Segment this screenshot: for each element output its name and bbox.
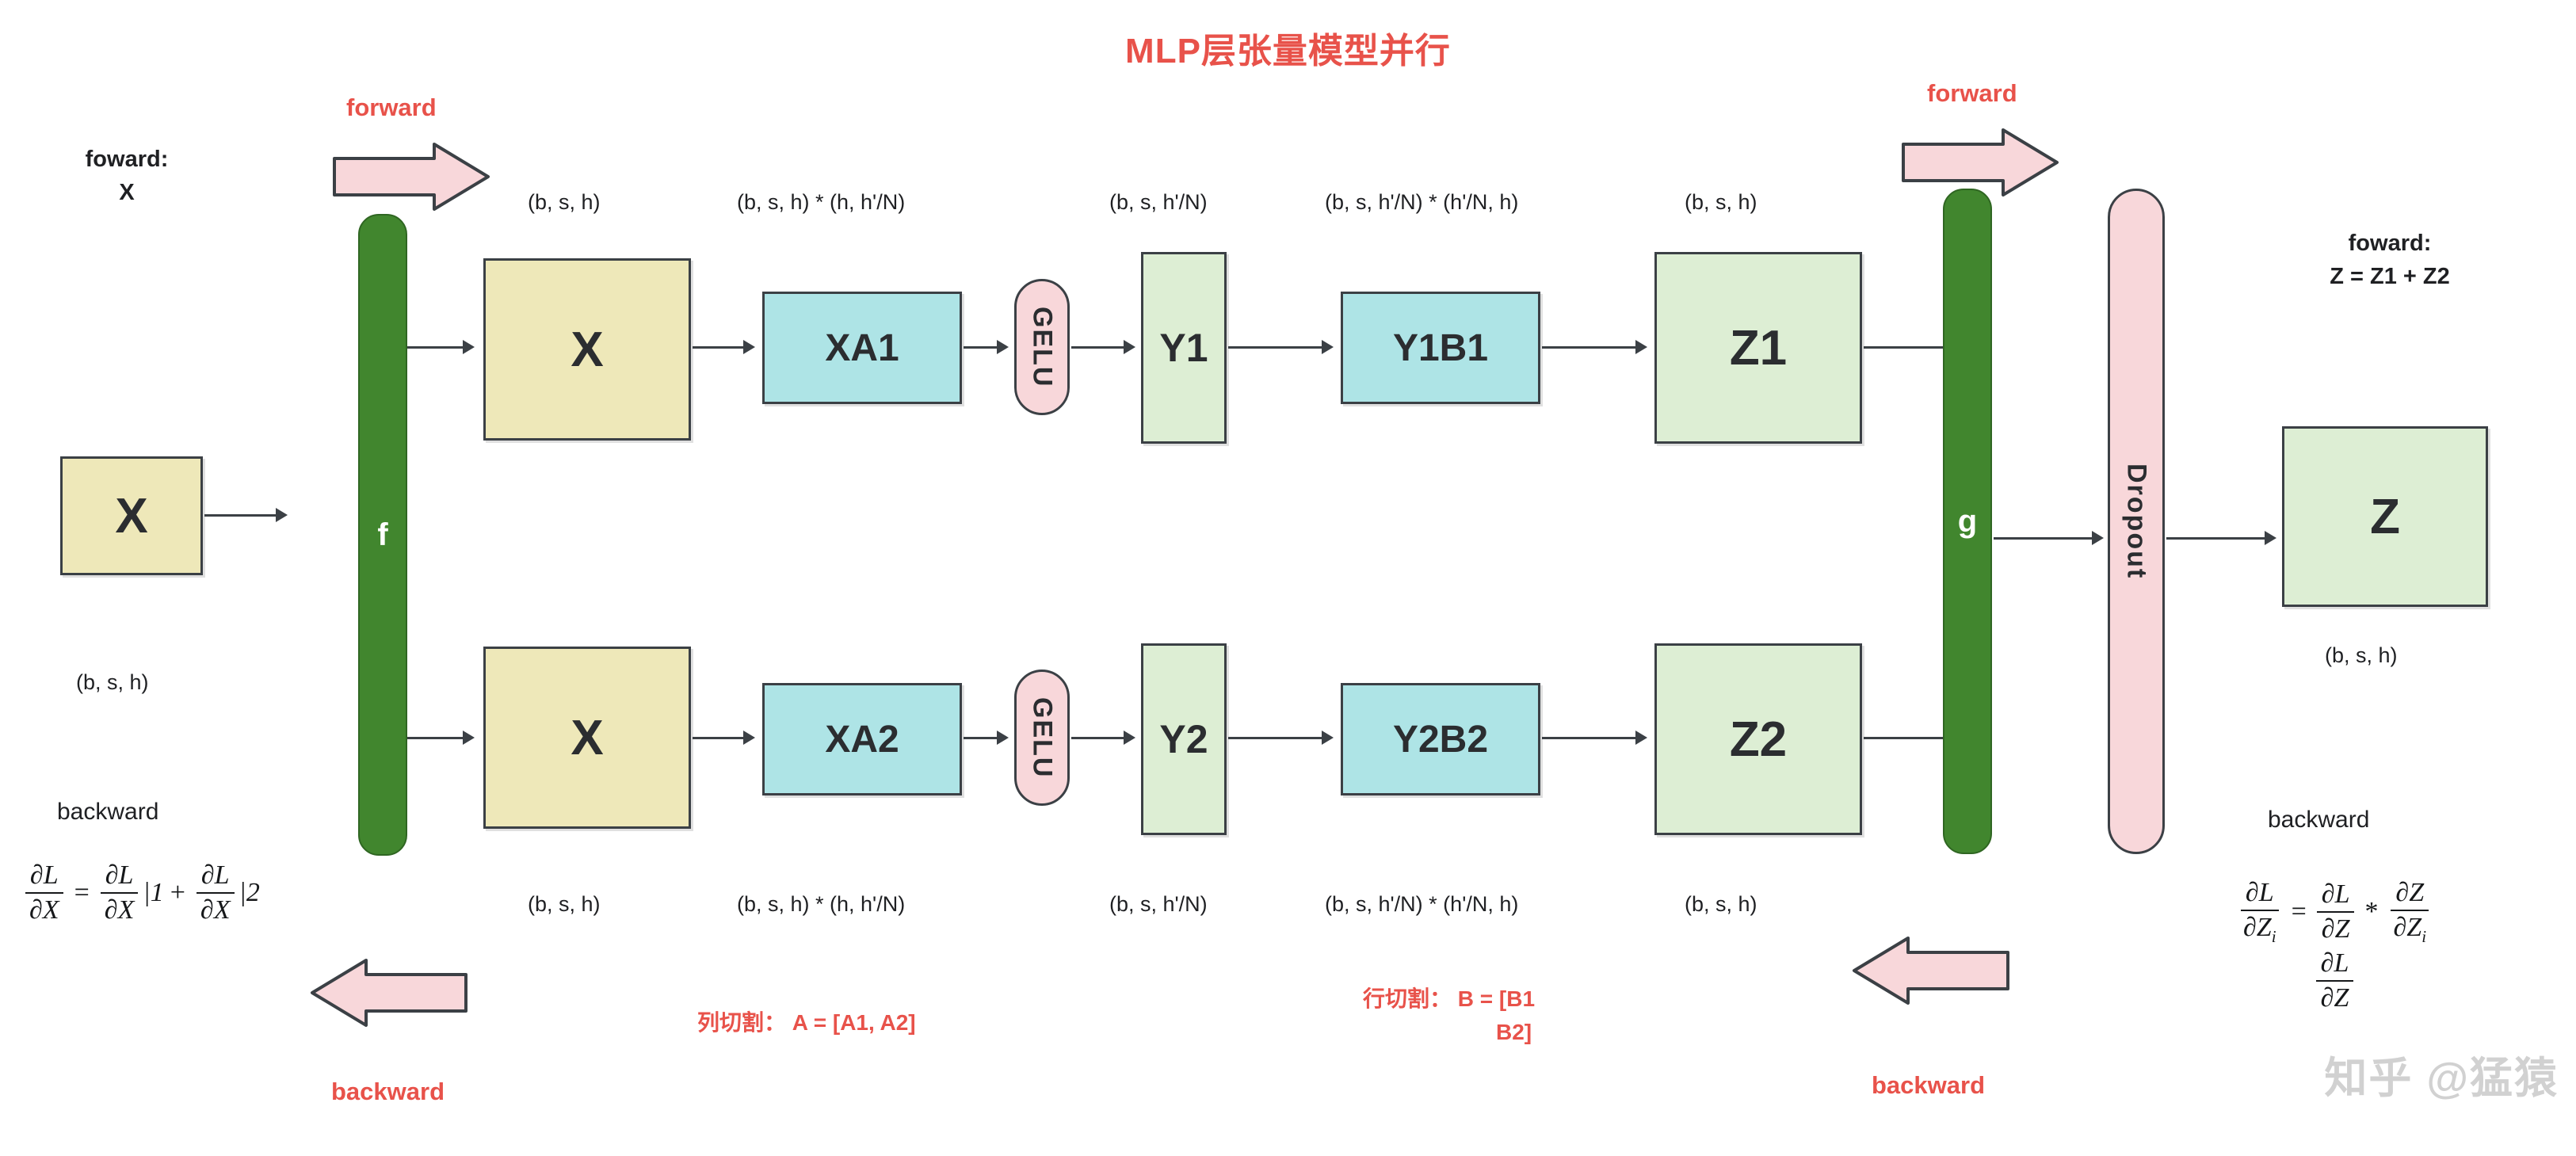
branch-bottom-yb-box: Y2B2 [1341, 683, 1540, 795]
left-forward-note: foward: X [48, 143, 206, 209]
branch-top-gelu-label: GELU [1027, 307, 1058, 387]
connector-top-x-to-xa1 [693, 346, 745, 349]
lbf-lhs-num: ∂L [25, 860, 63, 894]
connector-bottom-y2b2-to-z2-arrowhead [1635, 731, 1647, 745]
g-allreduce-bar: g [1943, 189, 1992, 854]
right-forward-note-line1: foward: [2271, 227, 2509, 260]
connector-bottom-x-to-xa2-arrowhead [743, 731, 755, 745]
lbf-lhs-den: ∂X [25, 894, 64, 925]
lbf-t2-num: ∂L [197, 860, 235, 894]
connector-g-to-dropout-arrowhead [2092, 531, 2104, 545]
rbf-t1-den: ∂Z [2317, 913, 2355, 944]
lbf-plus: + [170, 878, 185, 908]
connector-bottom-xa2-to-gelu-arrowhead [997, 731, 1009, 745]
left-backward-label: backward [57, 799, 158, 826]
rbf-second-den: ∂Z [2316, 982, 2354, 1013]
rbf-second-num: ∂L [2316, 948, 2354, 982]
rbf-t2-num: ∂Z [2391, 878, 2429, 911]
dim-top-3: (b, s, h'/N) * (h'/N, h) [1325, 190, 1518, 215]
dropout-label: Dropout [2121, 464, 2152, 579]
connector-f-to-x2-arrowhead [463, 731, 475, 745]
dim-bottom-1: (b, s, h) * (h, h'/N) [737, 892, 905, 917]
connector-dropout-to-z [2166, 537, 2266, 540]
g-bar-label: g [1958, 504, 1977, 540]
connector-f-to-x2 [407, 737, 464, 739]
row-split-note-line1: 行切割： B = [B1 [1363, 982, 1535, 1016]
input-box-x-label: X [115, 488, 147, 544]
rbf-t2: ∂Z ∂Zi [2388, 878, 2431, 947]
output-box-z-label: Z [2370, 489, 2400, 545]
f-bar-label: f [377, 517, 387, 553]
connector-top-y1b1-to-z1-arrowhead [1635, 340, 1647, 354]
branch-top-z-box: Z1 [1654, 252, 1862, 444]
right-forward-block-arrow [1902, 127, 2060, 198]
dim-bottom-4: (b, s, h) [1685, 892, 1757, 917]
lbf-lhs: ∂L ∂X [25, 860, 64, 925]
f-allreduce-bar: f [358, 214, 407, 856]
rbf-lhs: ∂L ∂Zi [2238, 878, 2281, 947]
connector-f-to-x1 [407, 346, 464, 349]
connector-top-gelu-to-y1-arrowhead [1124, 340, 1135, 354]
rbf-eq: = [2292, 897, 2307, 927]
branch-top-z-label: Z1 [1730, 320, 1787, 376]
dropout-pill: Dropout [2108, 189, 2165, 854]
dim-top-4: (b, s, h) [1685, 190, 1757, 215]
row-split-note: 行切割： B = [B1 B2] [1363, 982, 1535, 1049]
output-box-z: Z [2282, 426, 2488, 607]
lbf-t1-den: ∂X [100, 894, 139, 925]
left-backward-formula: ∂L ∂X = ∂L ∂X |1 + ∂L ∂X |2 [21, 860, 260, 925]
connector-top-y1-to-y1b1-arrowhead [1322, 340, 1334, 354]
branch-top-x-label: X [571, 322, 603, 378]
branch-bottom-yb-label: Y2B2 [1393, 718, 1488, 761]
connector-x-to-f-arrowhead [276, 508, 288, 522]
branch-bottom-y-label: Y2 [1159, 716, 1208, 762]
connector-top-xa1-to-gelu [964, 346, 998, 349]
watermark: 知乎 @猛猿 [2324, 1043, 2559, 1105]
right-backward-formula: ∂L ∂Zi = ∂L ∂Z * ∂Z ∂Zi ∂L ∂Z [2234, 878, 2435, 1013]
connector-f-to-x1-arrowhead [463, 340, 475, 354]
left-backward-arrow-label: backward [331, 1078, 445, 1106]
branch-top-gelu-pill: GELU [1014, 279, 1070, 415]
rbf-lhs-num: ∂L [2241, 878, 2279, 911]
branch-bottom-z-box: Z2 [1654, 643, 1862, 835]
row-split-note-line2: B2] [1363, 1016, 1535, 1049]
lbf-t2: ∂L ∂X [196, 860, 235, 925]
column-split-note: 列切割： A = [A1, A2] [697, 1006, 916, 1040]
branch-bottom-z-label: Z2 [1730, 712, 1787, 768]
lbf-t1-suffix: |1 [143, 878, 163, 908]
branch-top-xa-label: XA1 [825, 326, 899, 370]
left-forward-note-line2: X [48, 176, 206, 209]
branch-bottom-xa-box: XA2 [762, 683, 962, 795]
branch-bottom-xa-label: XA2 [825, 718, 899, 761]
rbf-t2-den-sub: i [2421, 927, 2426, 946]
connector-bottom-y2-to-y2b2-arrowhead [1322, 731, 1334, 745]
dim-top-2: (b, s, h'/N) [1109, 190, 1208, 215]
connector-bottom-gelu-to-y2 [1071, 737, 1125, 739]
branch-bottom-y-box: Y2 [1141, 643, 1227, 835]
connector-bottom-x-to-xa2 [693, 737, 745, 739]
page-title: MLP层张量模型并行 [0, 22, 2576, 73]
rbf-t2-den-main: ∂Z [2393, 913, 2421, 942]
branch-bottom-gelu-pill: GELU [1014, 670, 1070, 806]
right-forward-arrow-label: forward [1927, 79, 2017, 108]
branch-top-xa-box: XA1 [762, 292, 962, 404]
lbf-t1: ∂L ∂X [100, 860, 139, 925]
rbf-mul: * [2364, 897, 2378, 927]
rbf-second-line: ∂L ∂Z [2234, 948, 2435, 1013]
rbf-lhs-den-main: ∂Z [2243, 913, 2272, 942]
dim-top-0: (b, s, h) [528, 190, 601, 215]
lbf-t2-den: ∂X [196, 894, 235, 925]
input-box-x-dim: (b, s, h) [76, 670, 149, 695]
rbf-t1: ∂L ∂Z [2317, 879, 2355, 944]
left-forward-block-arrow [333, 141, 491, 212]
lbf-t1-num: ∂L [101, 860, 139, 894]
branch-bottom-x-box: X [483, 647, 691, 829]
lbf-eq: = [74, 878, 90, 908]
right-backward-block-arrow [1851, 935, 2009, 1006]
dim-bottom-2: (b, s, h'/N) [1109, 892, 1208, 917]
left-backward-block-arrow [309, 957, 467, 1028]
dim-bottom-0: (b, s, h) [528, 892, 601, 917]
connector-bottom-y2-to-y2b2 [1228, 737, 1323, 739]
branch-top-x-box: X [483, 258, 691, 441]
right-backward-label: backward [2268, 807, 2369, 834]
connector-dropout-to-z-arrowhead [2265, 531, 2276, 545]
connector-top-gelu-to-y1 [1071, 346, 1125, 349]
connector-top-x-to-xa1-arrowhead [743, 340, 755, 354]
branch-bottom-gelu-label: GELU [1027, 697, 1058, 778]
lbf-t2-suffix: |2 [239, 878, 259, 908]
connector-top-xa1-to-gelu-arrowhead [997, 340, 1009, 354]
rbf-lhs-den: ∂Zi [2238, 911, 2281, 947]
rbf-t2-den: ∂Zi [2388, 911, 2431, 947]
left-forward-arrow-label: forward [346, 93, 437, 122]
rbf-second-frac: ∂L ∂Z [2316, 948, 2354, 1013]
connector-top-y1b1-to-z1 [1542, 346, 1637, 349]
connector-bottom-y2b2-to-z2 [1542, 737, 1637, 739]
branch-top-y-label: Y1 [1159, 325, 1208, 371]
input-box-x: X [60, 456, 203, 575]
output-box-z-dim: (b, s, h) [2325, 643, 2398, 668]
connector-g-to-dropout [1994, 537, 2093, 540]
connector-bottom-xa2-to-gelu [964, 737, 998, 739]
branch-top-yb-box: Y1B1 [1341, 292, 1540, 404]
left-forward-note-line1: foward: [48, 143, 206, 176]
right-forward-note-line2: Z = Z1 + Z2 [2271, 260, 2509, 293]
connector-x-to-f [204, 514, 277, 517]
rbf-t1-num: ∂L [2317, 879, 2355, 913]
branch-top-y-box: Y1 [1141, 252, 1227, 444]
connector-bottom-gelu-to-y2-arrowhead [1124, 731, 1135, 745]
right-forward-note: foward: Z = Z1 + Z2 [2271, 227, 2509, 293]
branch-bottom-x-label: X [571, 710, 603, 766]
dim-bottom-3: (b, s, h'/N) * (h'/N, h) [1325, 892, 1518, 917]
branch-top-yb-label: Y1B1 [1393, 326, 1488, 370]
right-backward-arrow-label: backward [1872, 1071, 1985, 1100]
rbf-lhs-den-sub: i [2272, 927, 2276, 946]
connector-top-z1-to-g [1864, 346, 1951, 349]
connector-bottom-z2-to-g [1864, 737, 1951, 739]
connector-top-y1-to-y1b1 [1228, 346, 1323, 349]
dim-top-1: (b, s, h) * (h, h'/N) [737, 190, 905, 215]
